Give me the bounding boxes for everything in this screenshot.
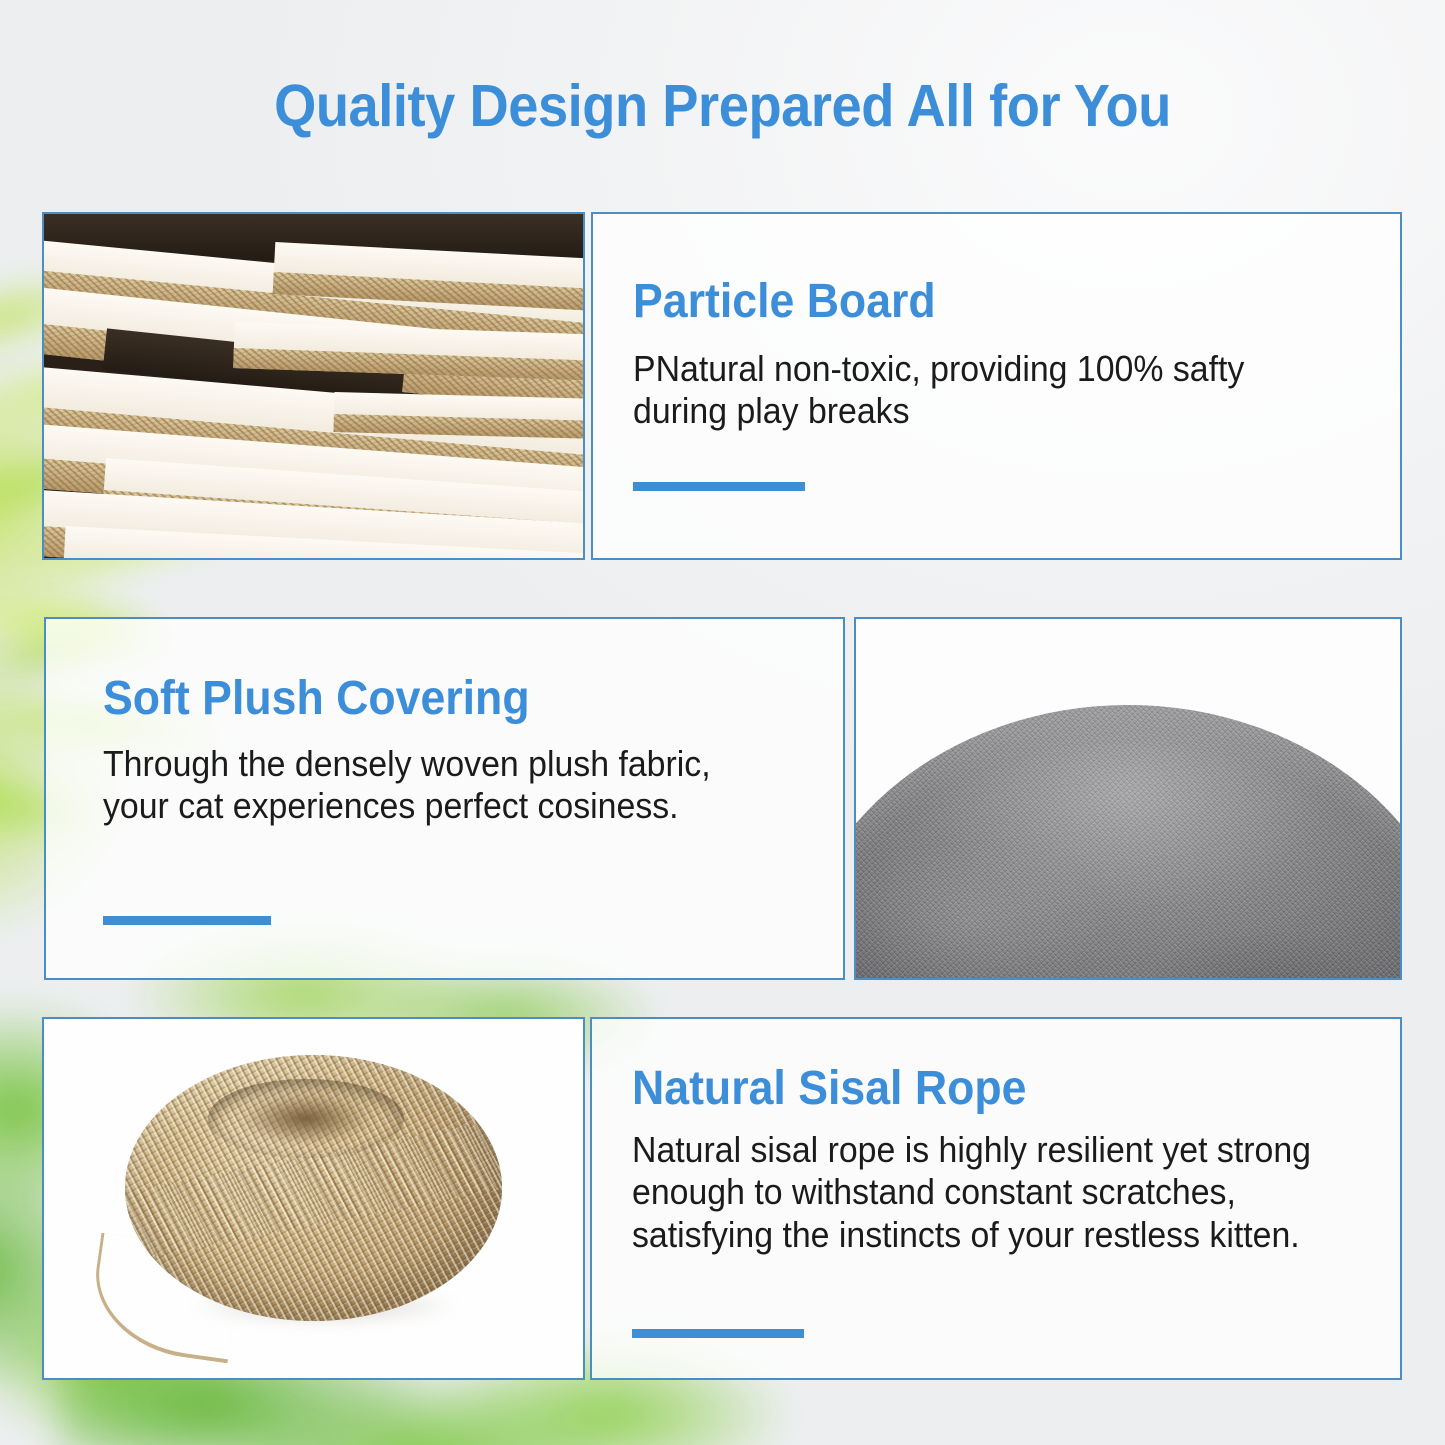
feature-body-natural-sisal-rope: Natural sisal rope is highly resilient y… (632, 1129, 1346, 1256)
feature-body-particle-board: PNatural non-toxic, providing 100% safty… (633, 348, 1329, 433)
infographic-page: Quality Design Prepared All for You (0, 0, 1445, 1445)
feature-image-particle-board (42, 212, 585, 560)
feature-image-soft-plush-covering (854, 617, 1402, 980)
feature-text-soft-plush-covering: Soft Plush Covering Through the densely … (44, 617, 845, 980)
accent-bar-particle-board (633, 482, 805, 491)
page-title: Quality Design Prepared All for You (58, 72, 1387, 140)
sisal-rope-illustration (44, 1019, 583, 1378)
feature-heading-soft-plush-covering: Soft Plush Covering (103, 671, 530, 726)
feature-text-natural-sisal-rope: Natural Sisal Rope Natural sisal rope is… (590, 1017, 1402, 1380)
feature-body-soft-plush-covering: Through the densely woven plush fabric, … (103, 743, 761, 828)
accent-bar-natural-sisal-rope (632, 1329, 804, 1338)
feature-image-natural-sisal-rope (42, 1017, 585, 1380)
feature-text-particle-board: Particle Board PNatural non-toxic, provi… (591, 212, 1402, 560)
particle-board-illustration (44, 214, 583, 558)
plush-fabric-illustration (856, 619, 1400, 978)
feature-heading-particle-board: Particle Board (633, 274, 936, 329)
accent-bar-soft-plush-covering (103, 916, 271, 925)
feature-heading-natural-sisal-rope: Natural Sisal Rope (632, 1061, 1026, 1116)
